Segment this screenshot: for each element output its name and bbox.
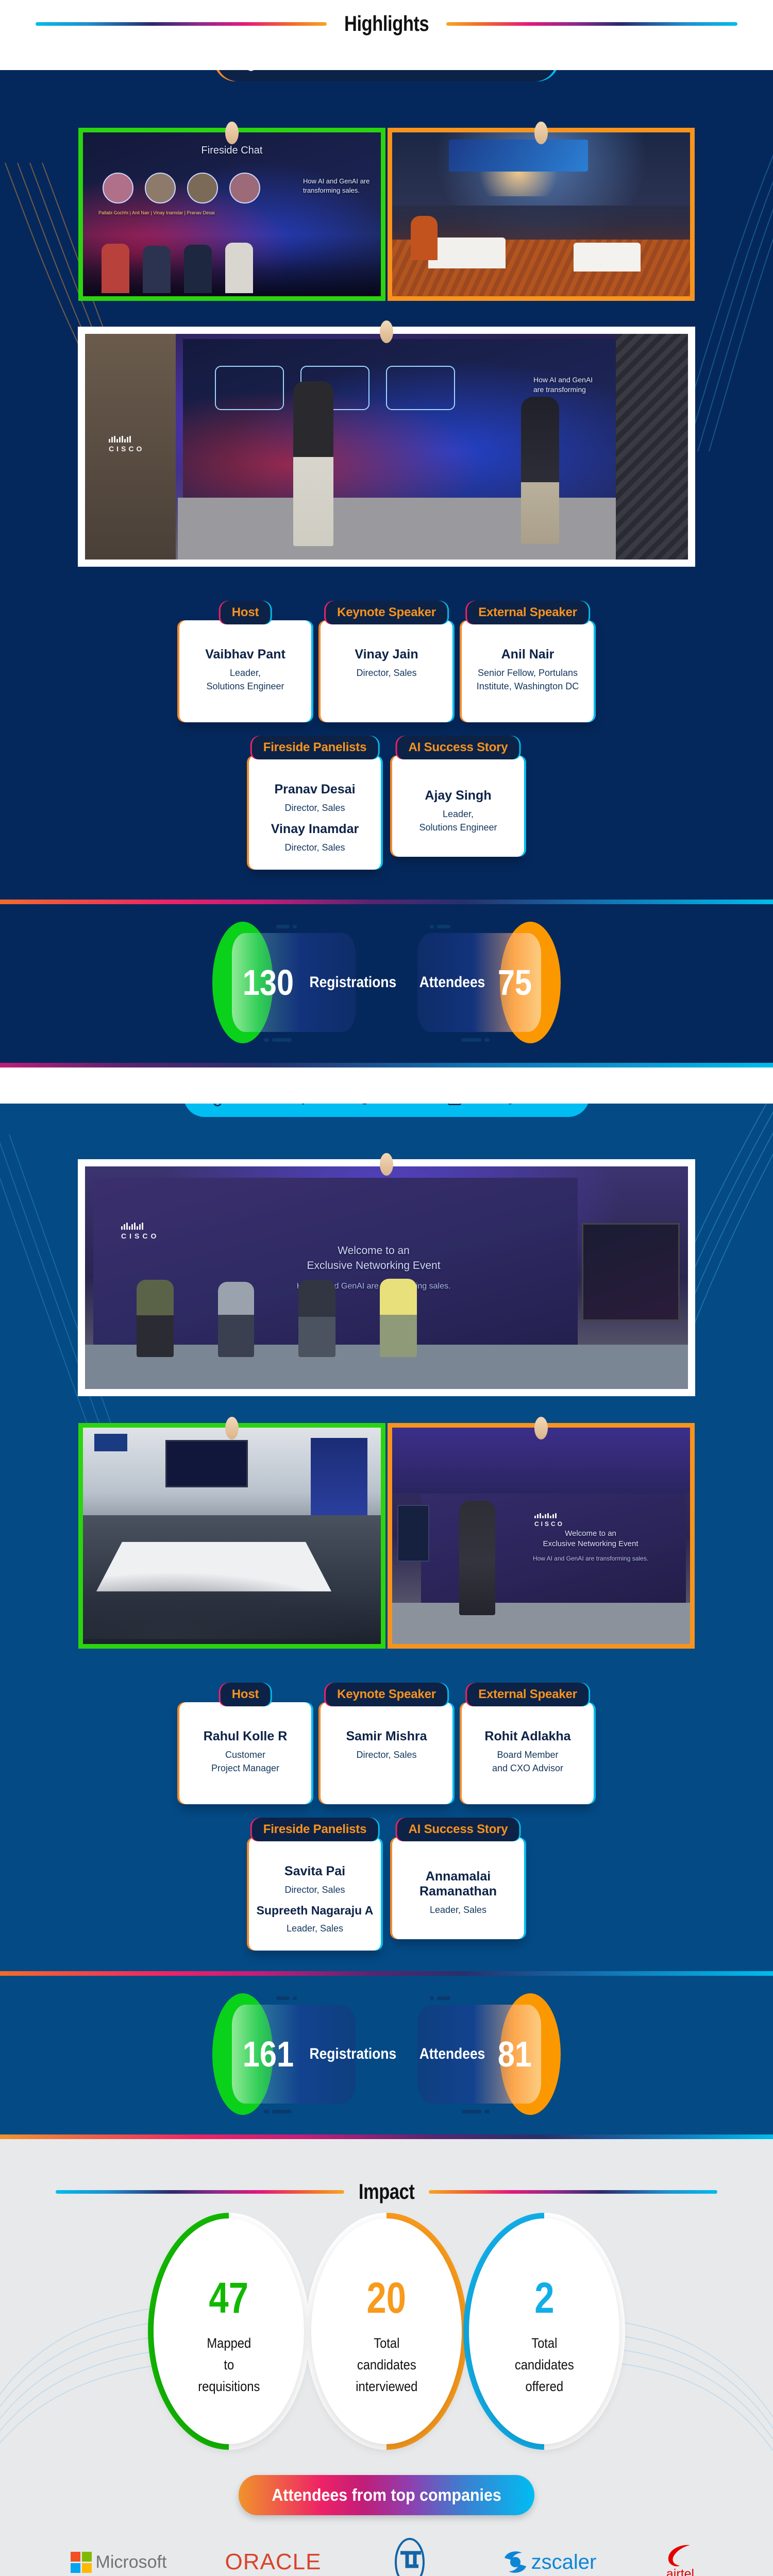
speaker-card-ai-success: AI Success Story Annamalai Ramanathan Le… xyxy=(392,1837,524,1939)
speaker-name: Annamalai Ramanathan xyxy=(399,1869,517,1899)
pin-dot-icon xyxy=(534,122,548,144)
stat-deco xyxy=(264,1035,295,1044)
photo-row-1-mumbai: Fireside Chat How AI and GenAI are trans… xyxy=(0,128,773,301)
speaker-name: Samir Mishra xyxy=(328,1729,445,1744)
photo-frame-roundtable xyxy=(78,1423,385,1649)
photo-frame-audience xyxy=(388,128,695,301)
cisco-logo: CISCO xyxy=(534,1513,564,1528)
stat-deco xyxy=(462,2107,493,2116)
impact-metric-interviewed: 20 Total candidates interviewed xyxy=(311,2218,462,2444)
speaker-card-host: Host Vaibhav Pant Leader, Solutions Engi… xyxy=(179,620,311,722)
highlights-page: Highlights Sofitel Mumbai xyxy=(0,0,773,2576)
event-photo-audience xyxy=(392,132,690,296)
gradient-strip xyxy=(0,2134,773,2139)
cisco-logo: CISCO xyxy=(109,436,144,453)
speaker-role: Board Member and CXO Advisor xyxy=(469,1748,586,1775)
logo-oracle: ORACLE xyxy=(196,2534,350,2576)
location-pin-icon xyxy=(210,1104,225,1107)
speaker-card-keynote: Keynote Speaker Vinay Jain Director, Sal… xyxy=(321,620,452,722)
event-section-mumbai: Sofitel Mumbai 19th June 2025 xyxy=(0,70,773,900)
impact-section: Impact 47 Mapped to requisitions 20 Tota… xyxy=(0,2139,773,2576)
cisco-logo: CISCO xyxy=(121,1223,159,1240)
speaker-role: Leader, Solutions Engineer xyxy=(399,807,517,834)
speaker-tag: External Speaker xyxy=(467,1683,589,1706)
title-rule-right xyxy=(446,22,737,26)
speaker-tag: Fireside Panelists xyxy=(252,1818,378,1841)
speaker-card-ai-success: AI Success Story Ajay Singh Leader, Solu… xyxy=(392,755,524,857)
speaker-tag: AI Success Story xyxy=(397,736,519,759)
speaker-tag: AI Success Story xyxy=(397,1818,519,1841)
companies-heading: Attendees from top companies xyxy=(239,2475,534,2515)
speaker-role: Director, Sales xyxy=(328,1748,445,1761)
impact-label: Total candidates offered xyxy=(515,2333,574,2398)
event-photo-welcome: CISCO Welcome to anExclusive Networking … xyxy=(392,1428,690,1644)
stat-deco xyxy=(462,1035,493,1044)
stat-value: 130 xyxy=(243,964,294,1001)
stat-deco xyxy=(430,922,453,931)
pin-dot-icon xyxy=(380,1153,393,1176)
venue-date: 19th June 2025 xyxy=(399,70,530,71)
speaker-row-2-mumbai: Fireside Panelists Pranav Desai Director… xyxy=(0,736,773,870)
venue-name: Cisco campus, Bangalore xyxy=(231,1104,403,1105)
logo-lt xyxy=(350,2534,469,2576)
speaker-name: Vinay Jain xyxy=(328,647,445,662)
speaker-name: Rohit Adlakha xyxy=(469,1729,586,1744)
pin-dot-icon xyxy=(225,122,239,144)
stat-label: Registrations xyxy=(309,2045,396,2063)
photo-frame-fireside: Fireside Chat How AI and GenAI are trans… xyxy=(78,128,385,301)
stat-attendees: Attendees 75 xyxy=(417,931,541,1034)
title-rule-right xyxy=(429,2190,717,2194)
stat-deco xyxy=(276,1993,300,2003)
speaker-name: Pranav Desai xyxy=(256,782,374,797)
speaker-card-panelists: Fireside Panelists Pranav Desai Director… xyxy=(249,755,381,870)
page-title: Highlights xyxy=(338,11,435,36)
stat-deco xyxy=(276,922,300,931)
highlights-title-row: Highlights xyxy=(0,0,773,41)
speaker-role: Director, Sales xyxy=(256,1883,374,1896)
stat-value: 81 xyxy=(498,2036,532,2072)
stat-deco xyxy=(430,1993,453,2003)
speaker-tag: Keynote Speaker xyxy=(326,1683,447,1706)
stats-row-bangalore: 161 Registrations Attendees 81 xyxy=(0,1976,773,2134)
impact-title-row: Impact xyxy=(0,2139,773,2209)
pin-dot-icon xyxy=(534,1417,548,1439)
impact-value: 47 xyxy=(209,2276,249,2319)
speaker-name: Rahul Kolle R xyxy=(187,1729,304,1744)
speaker-tag: Keynote Speaker xyxy=(326,601,447,624)
impact-metrics: 47 Mapped to requisitions 20 Total candi… xyxy=(0,2209,773,2462)
speaker-role-2: Director, Sales xyxy=(256,841,374,854)
gradient-strip xyxy=(0,1971,773,1976)
speaker-role: Customer Project Manager xyxy=(187,1748,304,1775)
photo-frame-panel-bangalore: CISCO Welcome to anExclusive Networking … xyxy=(78,1159,695,1396)
speaker-role: Leader, Sales xyxy=(399,1903,517,1917)
title-rule-left xyxy=(56,2190,344,2194)
speaker-row-1-mumbai: Host Vaibhav Pant Leader, Solutions Engi… xyxy=(0,601,773,722)
venue-location: Cisco campus, Bangalore xyxy=(210,1104,426,1107)
stat-attendees: Attendees 81 xyxy=(417,2003,541,2106)
speaker-row-1-bangalore: Host Rahul Kolle R Customer Project Mana… xyxy=(0,1683,773,1804)
stat-value: 161 xyxy=(243,2036,294,2072)
venue-date-text: 3rd July 2025 xyxy=(468,1104,551,1105)
stat-registrations: 130 Registrations xyxy=(232,931,356,1034)
impact-metric-offered: 2 Total candidates offered xyxy=(469,2218,619,2444)
speaker-name-2: Vinay Inamdar xyxy=(256,822,374,837)
logo-zscaler: zscaler xyxy=(469,2534,629,2576)
location-pin-icon xyxy=(243,70,259,71)
speaker-tag: Fireside Panelists xyxy=(252,736,378,759)
stat-value: 75 xyxy=(498,964,532,1001)
impact-value: 2 xyxy=(534,2276,554,2319)
speaker-name: Anil Nair xyxy=(469,647,586,662)
stat-deco xyxy=(264,2107,295,2116)
companies-heading-wrap: Attendees from top companies xyxy=(0,2462,773,2522)
event-venue-pill-bangalore: Cisco campus, Bangalore 3rd July 2025 xyxy=(183,1104,590,1117)
stat-registrations: 161 Registrations xyxy=(232,2003,356,2106)
speaker-tag: Host xyxy=(221,1683,271,1706)
speaker-name: Ajay Singh xyxy=(399,788,517,803)
impact-label: Mapped to requisitions xyxy=(198,2333,260,2398)
speaker-tag: Host xyxy=(221,601,271,624)
event-photo-fireside: Fireside Chat How AI and GenAI are trans… xyxy=(83,132,381,296)
logo-airtel: airtel xyxy=(629,2534,732,2576)
impact-label: Total candidates interviewed xyxy=(356,2333,417,2398)
speaker-name: Vaibhav Pant xyxy=(187,647,304,662)
gradient-strip xyxy=(0,1063,773,1067)
venue-location: Sofitel Mumbai xyxy=(243,70,378,71)
speaker-card-panelists: Fireside Panelists Savita Pai Director, … xyxy=(249,1837,381,1951)
speaker-card-external: External Speaker Anil Nair Senior Fellow… xyxy=(462,620,594,722)
photo-frame-keynote: CISCO How AI and GenAI are transforming … xyxy=(78,327,695,567)
speaker-card-keynote: Keynote Speaker Samir Mishra Director, S… xyxy=(321,1702,452,1804)
gradient-strip xyxy=(0,900,773,904)
impact-value: 20 xyxy=(367,2276,407,2319)
company-logo-grid: Microsoft ORACLE zscaler air xyxy=(0,2522,773,2576)
speaker-name-2: Supreeth Nagaraju A xyxy=(256,1904,374,1918)
event-section-bangalore: Cisco campus, Bangalore 3rd July 2025 xyxy=(0,1104,773,1971)
venue-date: 3rd July 2025 xyxy=(447,1104,563,1106)
speaker-role: Leader, Solutions Engineer xyxy=(187,666,304,693)
speaker-name: Savita Pai xyxy=(256,1864,374,1879)
stat-label: Attendees xyxy=(419,2045,485,2063)
speaker-role: Director, Sales xyxy=(328,666,445,680)
speaker-tag: External Speaker xyxy=(467,601,589,624)
calendar-icon xyxy=(447,1104,462,1106)
pin-dot-icon xyxy=(225,1417,239,1439)
stats-row-mumbai: 130 Registrations Attendees 75 xyxy=(0,904,773,1063)
impact-title: Impact xyxy=(352,2179,422,2204)
title-rule-left xyxy=(36,22,327,26)
speaker-role: Senior Fellow, Portulans Institute, Wash… xyxy=(469,666,586,693)
event-venue-pill-mumbai: Sofitel Mumbai 19th June 2025 xyxy=(216,70,557,81)
pin-dot-icon xyxy=(380,320,393,343)
calendar-icon xyxy=(399,70,416,71)
stat-label: Attendees xyxy=(419,974,485,991)
speaker-role: Director, Sales xyxy=(256,801,374,815)
event-photo-roundtable xyxy=(83,1428,381,1644)
stat-label: Registrations xyxy=(309,974,396,991)
speaker-row-2-bangalore: Fireside Panelists Savita Pai Director, … xyxy=(0,1818,773,1951)
event-photo-keynote: CISCO How AI and GenAI are transforming … xyxy=(85,334,688,560)
impact-metric-mapped: 47 Mapped to requisitions xyxy=(154,2218,304,2444)
logo-microsoft: Microsoft xyxy=(41,2534,196,2576)
event-photo-panel: CISCO Welcome to anExclusive Networking … xyxy=(85,1166,688,1389)
photo-frame-welcome: CISCO Welcome to anExclusive Networking … xyxy=(388,1423,695,1649)
logo-row: Microsoft ORACLE zscaler air xyxy=(0,2534,773,2576)
speaker-card-external: External Speaker Rohit Adlakha Board Mem… xyxy=(462,1702,594,1804)
speaker-card-host: Host Rahul Kolle R Customer Project Mana… xyxy=(179,1702,311,1804)
speaker-role-2: Leader, Sales xyxy=(256,1922,374,1935)
